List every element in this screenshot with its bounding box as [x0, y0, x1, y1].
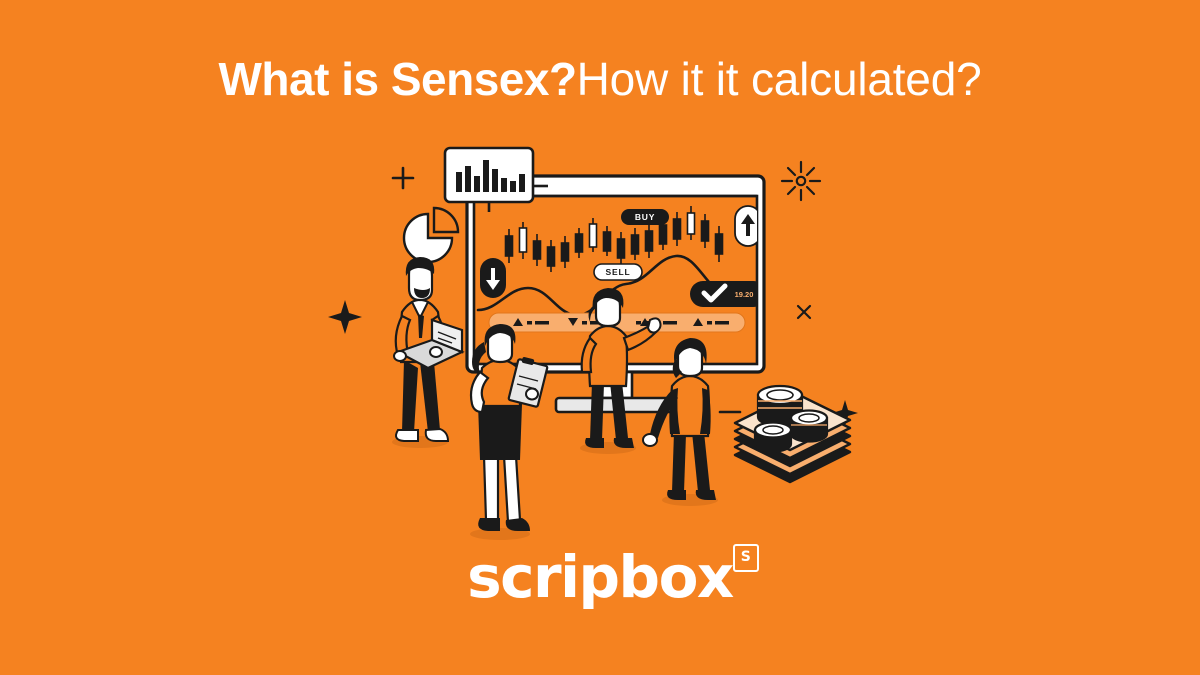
brand-logo: scripbox S	[0, 548, 1200, 606]
buy-badge-label: BUY	[635, 212, 655, 222]
arrow-down-pill[interactable]	[480, 258, 506, 298]
buy-badge[interactable]: BUY	[621, 209, 669, 225]
coin-front	[755, 423, 791, 452]
coin-stack-mid	[791, 411, 827, 442]
logo-wordmark: scripbox	[467, 543, 733, 611]
check-value-pill[interactable]: 19.20	[690, 281, 766, 307]
money-stack-icon	[735, 386, 850, 482]
pie-chart-icon	[404, 208, 458, 262]
x-sparkle-icon	[798, 306, 810, 318]
check-value-label: 19.20	[735, 290, 754, 299]
banner-canvas: What is Sensex?How it it calculated?	[0, 0, 1200, 675]
starburst-icon	[782, 162, 820, 200]
sell-badge-label: SELL	[606, 267, 631, 277]
logo-superscript-mark: S	[733, 544, 759, 572]
four-point-sparkle-icon	[328, 300, 362, 334]
sell-badge[interactable]: SELL	[594, 264, 642, 280]
pointer-hand	[648, 318, 661, 332]
plus-sparkle-icon	[393, 168, 413, 188]
person-analyst-left	[392, 257, 462, 448]
